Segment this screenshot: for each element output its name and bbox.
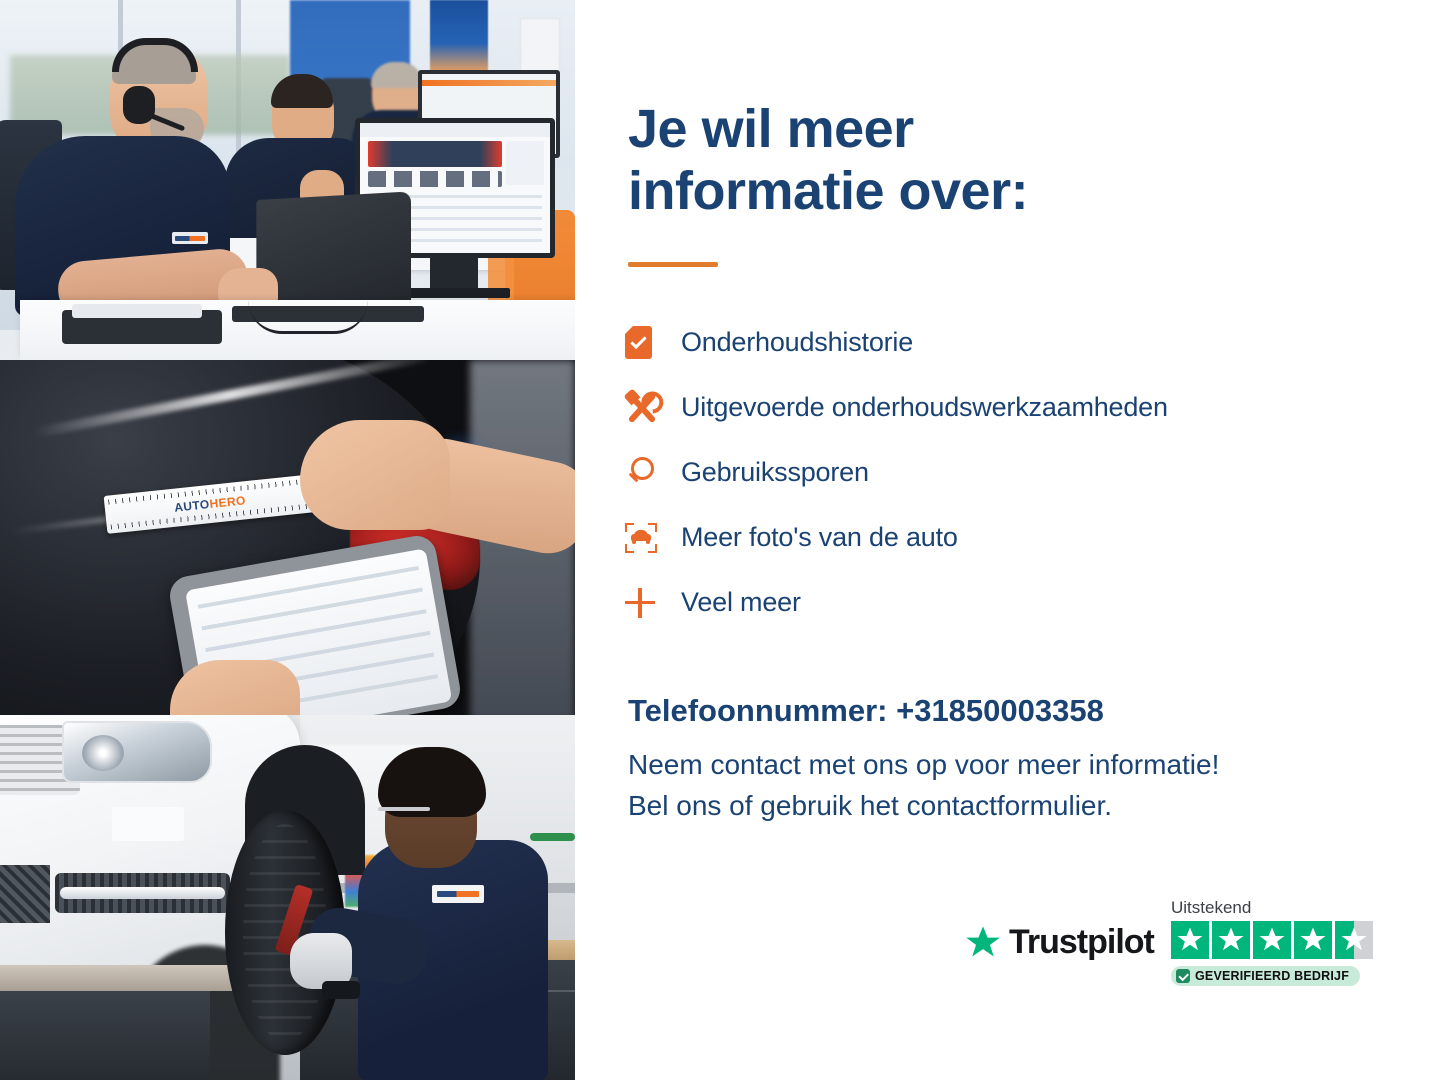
- trustpilot-star-icon: [963, 924, 1003, 962]
- star-tile: [1253, 921, 1291, 959]
- star-tile: [1294, 921, 1332, 959]
- content-panel: Je wil meer informatie over: Onderhoudsh…: [575, 0, 1440, 1080]
- document-check-icon: [625, 323, 681, 363]
- feature-item-meer-fotos: Meer foto's van de auto: [625, 505, 1385, 570]
- rating-label: Uitstekend: [1171, 898, 1381, 918]
- autohero-shirt-logo: [432, 885, 484, 903]
- feature-list: Onderhoudshistorie Uitgevoerde onderhoud…: [625, 310, 1385, 635]
- feature-label: Veel meer: [681, 587, 801, 618]
- star-tile-half: [1335, 921, 1373, 959]
- feature-label: Uitgevoerde onderhoudswerkzaamheden: [681, 392, 1168, 423]
- magnifier-icon: [625, 453, 681, 493]
- ruler-logo-part1: AUTO: [174, 497, 211, 515]
- rating-stars: [1171, 921, 1381, 959]
- plus-icon: [625, 583, 681, 623]
- feature-item-gebruikssporen: Gebruikssporen: [625, 440, 1385, 505]
- headline-line-1: Je wil meer: [628, 99, 914, 159]
- photo-column: AUTOHERO: [0, 0, 575, 1080]
- contact-line-2: Bel ons of gebruik het contactformulier.: [628, 785, 1388, 826]
- feature-label: Meer foto's van de auto: [681, 522, 958, 553]
- wrench-screwdriver-icon: [625, 388, 681, 428]
- autohero-shirt-logo: [172, 232, 208, 244]
- trustpilot-logo: Trustpilot: [963, 923, 1154, 962]
- title-divider: [628, 262, 718, 267]
- call-center-agents-photo: [0, 0, 575, 360]
- feature-label: Onderhoudshistorie: [681, 327, 913, 358]
- workshop-wheel-change-photo: [0, 715, 575, 1080]
- car-frame-icon: [625, 518, 681, 558]
- feature-item-veel-meer: Veel meer: [625, 570, 1385, 635]
- trustpilot-rating: Uitstekend GEVERIFIEERD BEDRIJF: [1171, 898, 1381, 988]
- verified-label: GEVERIFIEERD BEDRIJF: [1195, 969, 1349, 983]
- feature-item-onderhoudswerkzaamheden: Uitgevoerde onderhoudswerkzaamheden: [625, 375, 1385, 440]
- page-title: Je wil meer informatie over:: [628, 98, 1098, 222]
- star-tile: [1171, 921, 1209, 959]
- contact-text: Neem contact met ons op voor meer inform…: [628, 744, 1388, 827]
- phone-number[interactable]: Telefoonnummer: +31850003358: [628, 693, 1104, 729]
- verified-badge: GEVERIFIEERD BEDRIJF: [1171, 966, 1360, 986]
- trustpilot-widget[interactable]: Trustpilot Uitstekend GEVERIFIEERD BEDRI…: [963, 898, 1383, 1008]
- star-tile: [1212, 921, 1250, 959]
- trustpilot-brand: Trustpilot: [1009, 923, 1154, 962]
- car-inspection-ruler-photo: AUTOHERO: [0, 360, 575, 715]
- feature-item-onderhoudshistorie: Onderhoudshistorie: [625, 310, 1385, 375]
- check-shield-icon: [1176, 969, 1190, 983]
- promo-banner: AUTOHERO: [0, 0, 1440, 1080]
- feature-label: Gebruikssporen: [681, 457, 869, 488]
- headline-line-2: informatie over:: [628, 161, 1028, 221]
- contact-line-1: Neem contact met ons op voor meer inform…: [628, 744, 1388, 785]
- ruler-logo-part2: HERO: [209, 493, 247, 511]
